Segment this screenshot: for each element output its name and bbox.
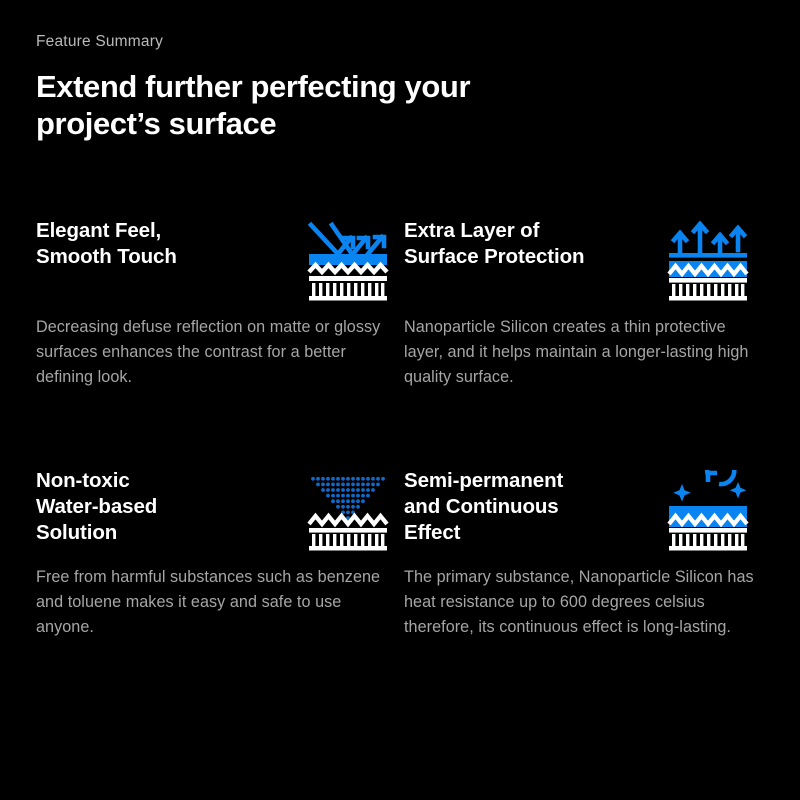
feature-body-4: The primary substance, Nanoparticle Sili… — [404, 565, 754, 640]
feature-title-3: Non-toxic Water-based Solution — [36, 468, 157, 547]
feature-header-2: Extra Layer of Surface Protection — [404, 218, 754, 302]
feature-card-1: Elegant Feel, Smooth Touch — [36, 218, 404, 468]
feature-header-3: Non-toxic Water-based Solution — [36, 468, 394, 552]
feature-body-2: Nanoparticle Silicon creates a thin prot… — [404, 315, 754, 390]
eyebrow-label: Feature Summary — [36, 33, 764, 51]
feature-title-4: Semi-permanent and Continuous Effect — [404, 468, 563, 547]
feature-title-1: Elegant Feel, Smooth Touch — [36, 218, 177, 270]
nanoparticle-pyramid-icon — [302, 468, 394, 552]
feature-grid: Elegant Feel, Smooth Touch — [36, 218, 764, 718]
feature-header-4: Semi-permanent and Continuous Effect — [404, 468, 754, 552]
reflection-surface-icon — [302, 218, 394, 302]
feature-title-2: Extra Layer of Surface Protection — [404, 218, 584, 270]
page-title: Extend further perfecting your project’s… — [36, 68, 506, 142]
feature-body-1: Decreasing defuse reflection on matte or… — [36, 315, 388, 390]
feature-card-2: Extra Layer of Surface Protection — [404, 218, 764, 468]
feature-body-3: Free from harmful substances such as ben… — [36, 565, 388, 640]
feature-card-4: Semi-permanent and Continuous Effect — [404, 468, 764, 718]
feature-header-1: Elegant Feel, Smooth Touch — [36, 218, 394, 302]
feature-card-3: Non-toxic Water-based Solution — [36, 468, 404, 718]
feature-summary-card: Feature Summary Extend further perfectin… — [0, 0, 800, 800]
protective-layer-icon — [662, 218, 754, 302]
continuous-refresh-icon — [662, 468, 754, 552]
